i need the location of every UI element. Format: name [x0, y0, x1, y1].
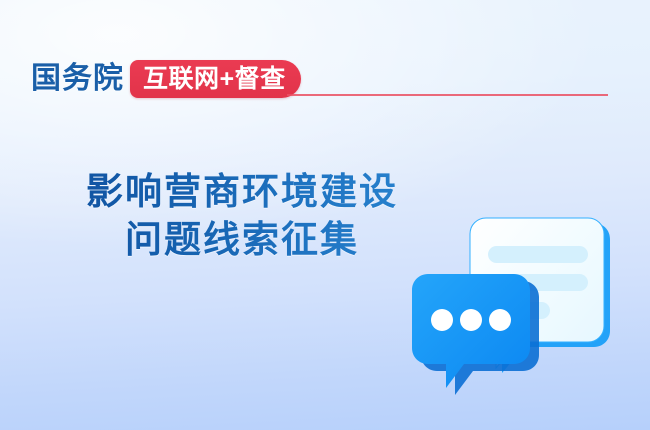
page-title-line-1: 影响营商环境建设	[40, 168, 444, 216]
header-divider-rule	[287, 94, 608, 96]
chat-bubbles-illustration	[392, 198, 626, 403]
typing-indicator-bubble	[412, 274, 539, 395]
supervision-badge-label: 互联网+督查	[143, 67, 286, 92]
organization-name: 国务院	[31, 64, 124, 94]
page-title-line-2: 问题线索征集	[40, 216, 444, 264]
typing-dots	[431, 309, 511, 331]
supervision-badge: 互联网+督查	[130, 60, 301, 98]
page-title: 影响营商环境建设 问题线索征集	[40, 168, 444, 264]
banner-header: 国务院 互联网+督查	[31, 57, 301, 101]
government-feedback-banner: 国务院 互联网+督查 影响营商环境建设 问题线索征集	[0, 0, 650, 430]
